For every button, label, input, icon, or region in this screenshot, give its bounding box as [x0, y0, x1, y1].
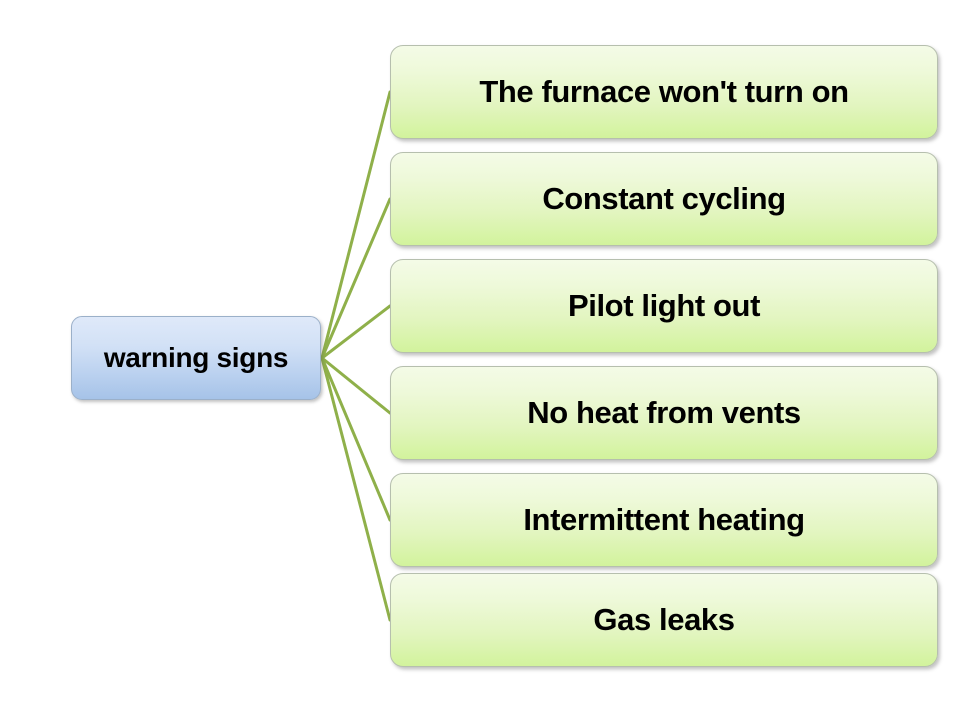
- connector-line-5: [322, 358, 390, 520]
- branch-node-5[interactable]: Intermittent heating: [390, 473, 938, 567]
- branch-node-label: Gas leaks: [579, 602, 748, 638]
- connector-line-6: [322, 358, 390, 620]
- connector-lines: [322, 92, 390, 620]
- root-node-warning-signs[interactable]: warning signs: [71, 316, 321, 400]
- branch-node-2[interactable]: Constant cycling: [390, 152, 938, 246]
- branch-node-label: The furnace won't turn on: [465, 74, 862, 110]
- branch-node-label: Pilot light out: [554, 288, 774, 324]
- root-node-label: warning signs: [104, 342, 288, 374]
- connector-line-1: [322, 92, 390, 358]
- branch-node-6[interactable]: Gas leaks: [390, 573, 938, 667]
- branch-node-4[interactable]: No heat from vents: [390, 366, 938, 460]
- branch-node-label: No heat from vents: [513, 395, 815, 431]
- mind-map-canvas: warning signs The furnace won't turn on …: [0, 0, 960, 720]
- connector-line-2: [322, 199, 390, 358]
- connector-line-4: [322, 358, 390, 413]
- branch-node-label: Constant cycling: [528, 181, 799, 217]
- branch-node-3[interactable]: Pilot light out: [390, 259, 938, 353]
- connector-line-3: [322, 306, 390, 358]
- branch-node-label: Intermittent heating: [509, 502, 818, 538]
- branch-node-1[interactable]: The furnace won't turn on: [390, 45, 938, 139]
